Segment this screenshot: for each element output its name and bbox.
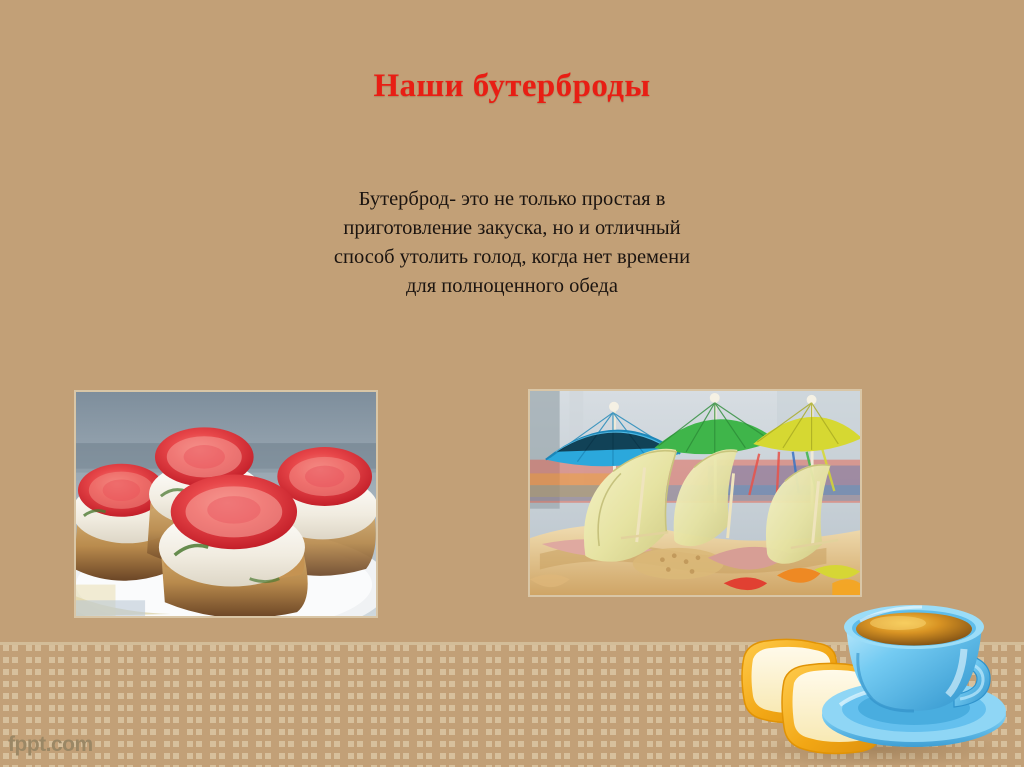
- left-photo-graphic: [76, 392, 376, 616]
- right-photo-graphic: [530, 391, 860, 595]
- body-line: способ утолить голод, когда нет времени: [262, 243, 762, 272]
- body-line: для полноценного обеда: [262, 272, 762, 301]
- page-title: Наши бутерброды: [0, 68, 1024, 105]
- teacup-with-bread-illustration: [728, 597, 1008, 765]
- photo-sandwich-boats-with-umbrellas: [528, 389, 862, 597]
- body-paragraph: Бутерброд- это не только простая в приго…: [262, 185, 762, 301]
- teacup-graphic: [728, 597, 1008, 765]
- body-line: приготовление закуска, но и отличный: [262, 214, 762, 243]
- body-line: Бутерброд- это не только простая в: [262, 185, 762, 214]
- slide-canvas: Наши бутерброды Бутерброд- это не только…: [0, 0, 1024, 767]
- watermark-fppt: fppt.com: [8, 733, 93, 757]
- photo-sandwiches-with-tomato: [74, 390, 378, 618]
